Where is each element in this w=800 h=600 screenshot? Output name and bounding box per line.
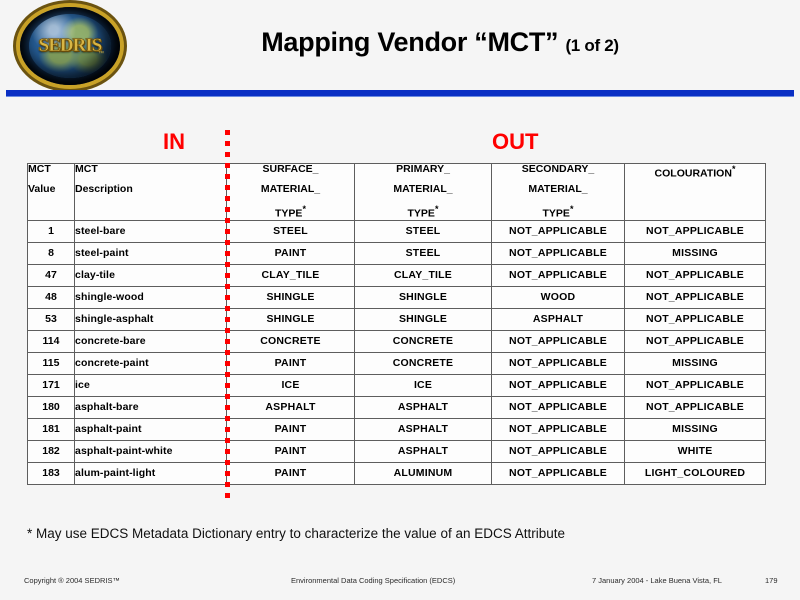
col-header-line: TYPE* [355,204,491,220]
cell-secondary-material-type: NOT_APPLICABLE [492,330,625,352]
cell-colouration: MISSING [625,418,766,440]
col-header-line: MATERIAL_ [492,184,624,195]
col-header-line: TYPE* [227,204,354,220]
cell-mct-value: 47 [28,264,75,286]
table-row: 114concrete-bareCONCRETECONCRETENOT_APPL… [28,330,766,352]
footer-document: Environmental Data Coding Specification … [291,576,455,585]
col-header-mct-value: MCT Value [28,164,75,221]
in-out-dashed-divider [225,130,230,500]
cell-colouration: MISSING [625,242,766,264]
slide-header: SEDRIS ™ Mapping Vendor “MCT” (1 of 2) [0,0,800,90]
table-row: 171iceICEICENOT_APPLICABLENOT_APPLICABLE [28,374,766,396]
cell-colouration: LIGHT_COLOURED [625,462,766,484]
col-header-line: SECONDARY_ [492,164,624,175]
cell-primary-material-type: CONCRETE [355,330,492,352]
cell-description: ice [75,374,227,396]
footer-event: 7 January 2004 - Lake Buena Vista, FL [592,576,722,585]
col-header-text: COLOURATION [655,168,732,180]
cell-description: alum-paint-light [75,462,227,484]
table-row: 8steel-paintPAINTSTEELNOT_APPLICABLEMISS… [28,242,766,264]
cell-primary-material-type: ALUMINUM [355,462,492,484]
trademark-icon: ™ [98,51,104,57]
mct-mapping-table: MCT Value MCT Description SURFACE_ MATER… [27,163,766,485]
cell-colouration: WHITE [625,440,766,462]
table-row: 47clay-tileCLAY_TILECLAY_TILENOT_APPLICA… [28,264,766,286]
col-header-primary-material-type: PRIMARY_ MATERIAL_ TYPE* [355,164,492,221]
cell-mct-value: 53 [28,308,75,330]
col-header-line: SURFACE_ [227,164,354,175]
cell-description: concrete-bare [75,330,227,352]
cell-surface-material-type: ASPHALT [227,396,355,418]
cell-primary-material-type: SHINGLE [355,286,492,308]
cell-secondary-material-type: NOT_APPLICABLE [492,440,625,462]
cell-colouration: NOT_APPLICABLE [625,264,766,286]
cell-description: asphalt-paint [75,418,227,440]
footnote-star-icon: * [302,204,306,214]
col-header-line: TYPE* [492,204,624,220]
cell-surface-material-type: PAINT [227,418,355,440]
col-header-line: MCT [28,163,51,175]
cell-surface-material-type: SHINGLE [227,308,355,330]
cell-mct-value: 171 [28,374,75,396]
cell-secondary-material-type: WOOD [492,286,625,308]
footnote-star-icon: * [732,164,736,174]
footnote-star-icon: * [570,204,574,214]
cell-description: steel-paint [75,242,227,264]
table-body: 1steel-bareSTEELSTEELNOT_APPLICABLENOT_A… [28,220,766,484]
col-header-line: Value [28,184,74,195]
cell-primary-material-type: CONCRETE [355,352,492,374]
cell-description: clay-tile [75,264,227,286]
table-row: 183alum-paint-lightPAINTALUMINUMNOT_APPL… [28,462,766,484]
cell-mct-value: 182 [28,440,75,462]
col-header-colouration: COLOURATION* [625,164,766,221]
cell-colouration: NOT_APPLICABLE [625,220,766,242]
page-title-main: Mapping Vendor “MCT” [261,27,558,57]
footer-copyright: Copyright ® 2004 SEDRIS™ [24,576,120,585]
footnote-star-icon: * [435,204,439,214]
col-header-text: TYPE [543,208,570,220]
cell-colouration: NOT_APPLICABLE [625,308,766,330]
col-header-mct-description: MCT Description [75,164,227,221]
cell-mct-value: 180 [28,396,75,418]
cell-description: shingle-wood [75,286,227,308]
cell-secondary-material-type: NOT_APPLICABLE [492,220,625,242]
label-out: OUT [492,129,538,155]
table-row: 115concrete-paintPAINTCONCRETENOT_APPLIC… [28,352,766,374]
cell-secondary-material-type: NOT_APPLICABLE [492,352,625,374]
table-row: 48shingle-woodSHINGLESHINGLEWOODNOT_APPL… [28,286,766,308]
table-header: MCT Value MCT Description SURFACE_ MATER… [28,164,766,221]
cell-primary-material-type: STEEL [355,242,492,264]
cell-colouration: NOT_APPLICABLE [625,396,766,418]
col-header-line: Description [75,184,226,195]
cell-description: concrete-paint [75,352,227,374]
table-row: 180asphalt-bareASPHALTASPHALTNOT_APPLICA… [28,396,766,418]
cell-primary-material-type: ASPHALT [355,418,492,440]
cell-secondary-material-type: NOT_APPLICABLE [492,462,625,484]
cell-surface-material-type: PAINT [227,440,355,462]
cell-colouration: NOT_APPLICABLE [625,286,766,308]
col-header-text: TYPE [275,208,302,220]
cell-primary-material-type: ICE [355,374,492,396]
cell-description: steel-bare [75,220,227,242]
col-header-line: MCT [75,163,98,175]
cell-mct-value: 115 [28,352,75,374]
sedris-logo: SEDRIS ™ [20,7,120,85]
cell-secondary-material-type: ASPHALT [492,308,625,330]
cell-mct-value: 181 [28,418,75,440]
table-header-row: MCT Value MCT Description SURFACE_ MATER… [28,164,766,221]
table-row: 181asphalt-paintPAINTASPHALTNOT_APPLICAB… [28,418,766,440]
cell-mct-value: 114 [28,330,75,352]
cell-mct-value: 48 [28,286,75,308]
cell-primary-material-type: ASPHALT [355,440,492,462]
cell-primary-material-type: ASPHALT [355,396,492,418]
title-divider-rule [6,90,794,97]
cell-surface-material-type: PAINT [227,462,355,484]
logo-wordmark: SEDRIS [20,35,120,57]
cell-surface-material-type: ICE [227,374,355,396]
col-header-line: PRIMARY_ [355,164,491,175]
cell-colouration: MISSING [625,352,766,374]
cell-description: asphalt-bare [75,396,227,418]
col-header-line: COLOURATION* [625,164,765,180]
cell-description: asphalt-paint-white [75,440,227,462]
table-row: 1steel-bareSTEELSTEELNOT_APPLICABLENOT_A… [28,220,766,242]
cell-colouration: NOT_APPLICABLE [625,330,766,352]
cell-secondary-material-type: NOT_APPLICABLE [492,396,625,418]
col-header-text: TYPE [408,208,435,220]
cell-primary-material-type: SHINGLE [355,308,492,330]
col-header-secondary-material-type: SECONDARY_ MATERIAL_ TYPE* [492,164,625,221]
page-title-sub: (1 of 2) [565,36,618,55]
mct-mapping-table-container: MCT Value MCT Description SURFACE_ MATER… [27,163,765,485]
col-header-surface-material-type: SURFACE_ MATERIAL_ TYPE* [227,164,355,221]
cell-description: shingle-asphalt [75,308,227,330]
cell-secondary-material-type: NOT_APPLICABLE [492,242,625,264]
cell-surface-material-type: CONCRETE [227,330,355,352]
cell-surface-material-type: CLAY_TILE [227,264,355,286]
cell-secondary-material-type: NOT_APPLICABLE [492,374,625,396]
col-header-line: MATERIAL_ [227,184,354,195]
cell-mct-value: 8 [28,242,75,264]
cell-secondary-material-type: NOT_APPLICABLE [492,264,625,286]
cell-surface-material-type: SHINGLE [227,286,355,308]
footer-page-number: 179 [765,576,778,585]
table-row: 53shingle-asphaltSHINGLESHINGLEASPHALTNO… [28,308,766,330]
cell-colouration: NOT_APPLICABLE [625,374,766,396]
cell-mct-value: 183 [28,462,75,484]
cell-surface-material-type: PAINT [227,352,355,374]
page-title: Mapping Vendor “MCT” (1 of 2) [120,27,760,58]
col-header-line: MATERIAL_ [355,184,491,195]
cell-primary-material-type: CLAY_TILE [355,264,492,286]
cell-surface-material-type: STEEL [227,220,355,242]
footnote-text: * May use EDCS Metadata Dictionary entry… [27,526,565,541]
cell-mct-value: 1 [28,220,75,242]
cell-primary-material-type: STEEL [355,220,492,242]
slide-footer: Copyright ® 2004 SEDRIS™ Environmental D… [0,574,800,594]
cell-secondary-material-type: NOT_APPLICABLE [492,418,625,440]
cell-surface-material-type: PAINT [227,242,355,264]
label-in: IN [163,129,185,155]
table-row: 182asphalt-paint-whitePAINTASPHALTNOT_AP… [28,440,766,462]
